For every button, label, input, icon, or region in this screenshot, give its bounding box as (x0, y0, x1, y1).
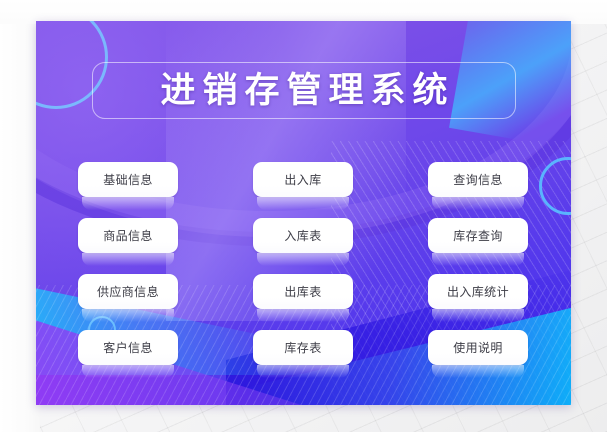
page-title: 进销存管理系统 (153, 73, 454, 108)
menu-button-label: 出入库统计 (447, 286, 509, 298)
menu-button-io-statistics[interactable]: 出入库统计 (428, 274, 528, 309)
menu-button-label: 出库表 (284, 286, 321, 298)
menu-button-product-info[interactable]: 商品信息 (78, 218, 178, 253)
menu-button-basic-info[interactable]: 基础信息 (78, 162, 178, 197)
menu-button-stock-table[interactable]: 库存表 (253, 330, 353, 365)
menu-button-label: 使用说明 (453, 342, 503, 354)
menu-button-label: 供应商信息 (97, 286, 159, 298)
app-root: 进销存管理系统 基础信息出入库查询信息商品信息入库表库存查询供应商信息出库表出入… (0, 0, 607, 432)
desk-background-left-shade (0, 0, 40, 432)
menu-grid: 基础信息出入库查询信息商品信息入库表库存查询供应商信息出库表出入库统计客户信息库… (78, 162, 529, 365)
menu-button-label: 基础信息 (103, 174, 153, 186)
menu-button-label: 查询信息 (453, 174, 503, 186)
menu-button-customer-info[interactable]: 客户信息 (78, 330, 178, 365)
circle-outline-right-edge-icon (539, 157, 571, 215)
menu-button-label: 出入库 (284, 174, 321, 186)
main-poster-panel: 进销存管理系统 基础信息出入库查询信息商品信息入库表库存查询供应商信息出库表出入… (36, 21, 571, 405)
menu-button-usage-guide[interactable]: 使用说明 (428, 330, 528, 365)
menu-button-query-info[interactable]: 查询信息 (428, 162, 528, 197)
menu-button-inbound-outbound[interactable]: 出入库 (253, 162, 353, 197)
menu-button-outbound-table[interactable]: 出库表 (253, 274, 353, 309)
menu-button-label: 商品信息 (103, 230, 153, 242)
menu-button-label: 库存表 (284, 342, 321, 354)
menu-button-inbound-table[interactable]: 入库表 (253, 218, 353, 253)
menu-button-supplier-info[interactable]: 供应商信息 (78, 274, 178, 309)
menu-button-stock-query[interactable]: 库存查询 (428, 218, 528, 253)
menu-button-label: 入库表 (284, 230, 321, 242)
menu-button-label: 库存查询 (453, 230, 503, 242)
menu-button-label: 客户信息 (103, 342, 153, 354)
title-frame: 进销存管理系统 (92, 62, 516, 119)
